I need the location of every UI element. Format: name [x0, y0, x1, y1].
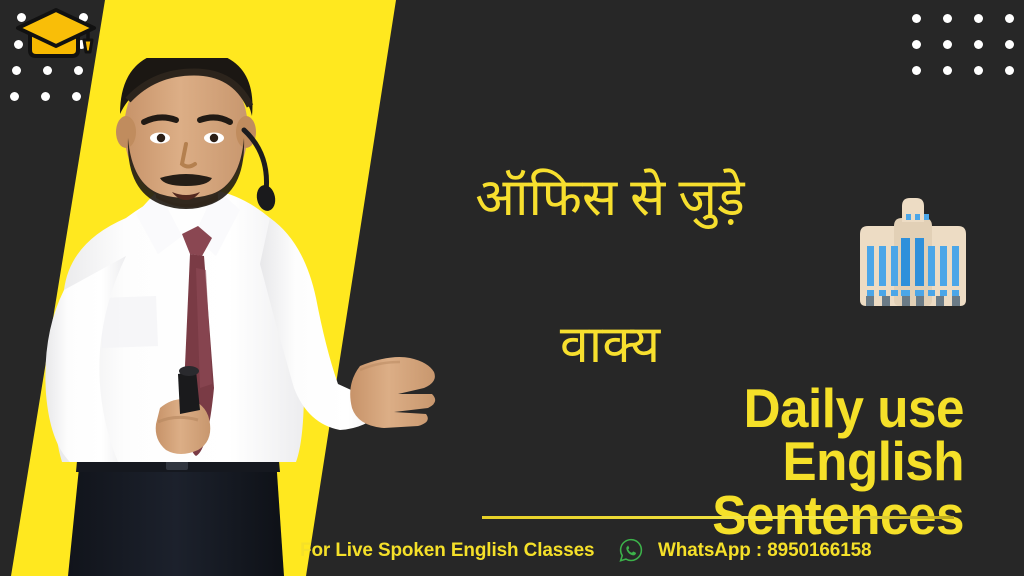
dot	[1005, 40, 1014, 49]
main-title-line1: Daily use English	[551, 382, 964, 489]
divider-line	[482, 516, 954, 519]
presenter-photo	[8, 58, 438, 576]
dot	[1005, 66, 1014, 75]
dot	[912, 66, 921, 75]
dot	[974, 40, 983, 49]
dot	[974, 14, 983, 23]
live-classes-label: For Live Spoken English Classes	[300, 539, 594, 562]
whatsapp-icon[interactable]	[618, 537, 644, 563]
dot	[1005, 14, 1014, 23]
poster-canvas: ऑफिस से जुड़े वाक्य	[0, 0, 1024, 576]
whatsapp-number-label: WhatsApp : 8950166158	[658, 539, 871, 562]
footer-bar: For Live Spoken English Classes WhatsApp…	[300, 533, 1000, 567]
hindi-headline-line1: ऑफिस से जुड़े	[400, 162, 820, 236]
dot	[974, 66, 983, 75]
dot	[943, 66, 952, 75]
dot	[943, 40, 952, 49]
dot	[912, 14, 921, 23]
dot	[943, 14, 952, 23]
office-building-icon	[852, 196, 974, 308]
hindi-headline-line2: वाक्य	[400, 309, 820, 383]
dot	[912, 40, 921, 49]
